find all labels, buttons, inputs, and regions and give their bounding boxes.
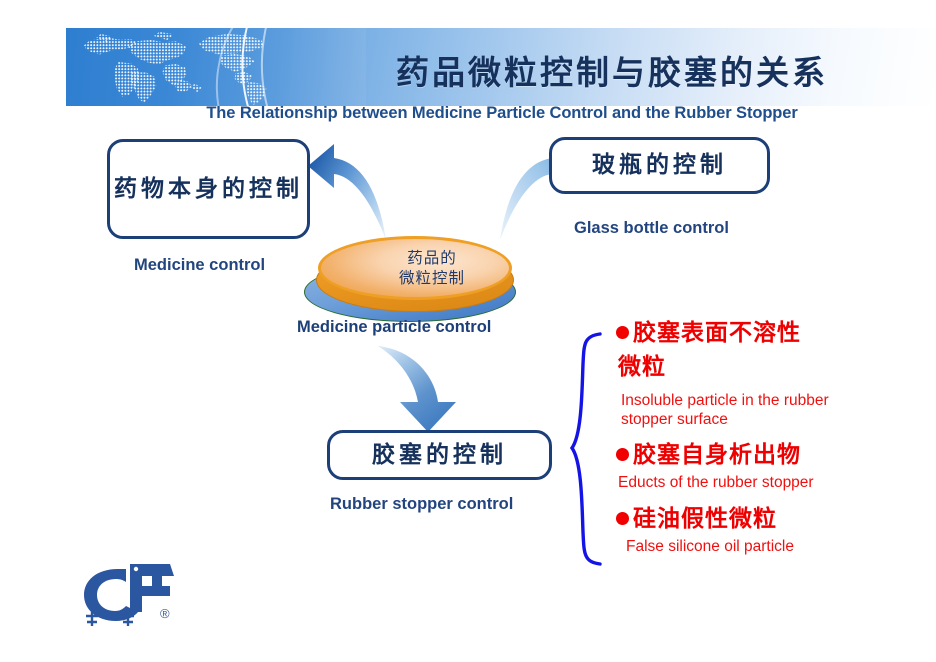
bullet-icon xyxy=(616,512,629,525)
stopper-issue-3-cn-line1: 硅油假性微粒 xyxy=(616,502,777,537)
stopper-issue-2-cn-line1: 胶塞自身析出物 xyxy=(616,438,801,473)
node-rubber-stopper-control-label: 胶塞的控制 xyxy=(372,438,507,473)
node-glass-bottle-control-label: 玻瓶的控制 xyxy=(592,148,727,183)
hualan-logo-icon xyxy=(78,556,190,632)
stopper-issue-2-en: Educts of the rubber stopper xyxy=(618,474,814,493)
stopper-issue-1-en: Insoluble particle in the rubber stopper… xyxy=(621,392,883,430)
stopper-issue-1-cn-line1: 胶塞表面不溶性 xyxy=(616,316,801,351)
disc-label: 药品的 微粒控制 xyxy=(318,236,512,300)
node-rubber-stopper-control[interactable]: 胶塞的控制 xyxy=(327,430,552,480)
caption-medicine-particle-control: Medicine particle control xyxy=(297,318,491,337)
bullet-icon xyxy=(616,326,629,339)
caption-rubber-stopper-control: Rubber stopper control xyxy=(330,495,513,514)
caption-glass-bottle-control: Glass bottle control xyxy=(574,219,729,238)
stopper-issue-1-cn-line2: 微粒 xyxy=(618,350,666,383)
page-title-en: The Relationship between Medicine Partic… xyxy=(66,104,936,123)
node-medicine-control[interactable]: 药物本身的控制 xyxy=(107,139,310,239)
node-medicine-control-label: 药物本身的控制 xyxy=(114,172,303,207)
bullet-icon xyxy=(616,448,629,461)
node-glass-bottle-control[interactable]: 玻瓶的控制 xyxy=(549,137,770,194)
curly-brace-icon xyxy=(568,330,604,568)
center-disc-medicine-particle-control[interactable]: 药品的 微粒控制 xyxy=(300,232,522,324)
stopper-issue-3-en: False silicone oil particle xyxy=(626,538,794,557)
disc-label-line2: 微粒控制 xyxy=(399,268,465,288)
slide-canvas: 药品微粒控制与胶塞的关系 The Relationship between Me… xyxy=(0,0,936,662)
registered-mark: ® xyxy=(160,606,170,621)
arrow-to-rubber-stopper-control xyxy=(372,340,482,436)
caption-medicine-control: Medicine control xyxy=(134,256,265,275)
page-title-cn: 药品微粒控制与胶塞的关系 xyxy=(348,46,876,94)
disc-label-line1: 药品的 xyxy=(407,248,457,268)
